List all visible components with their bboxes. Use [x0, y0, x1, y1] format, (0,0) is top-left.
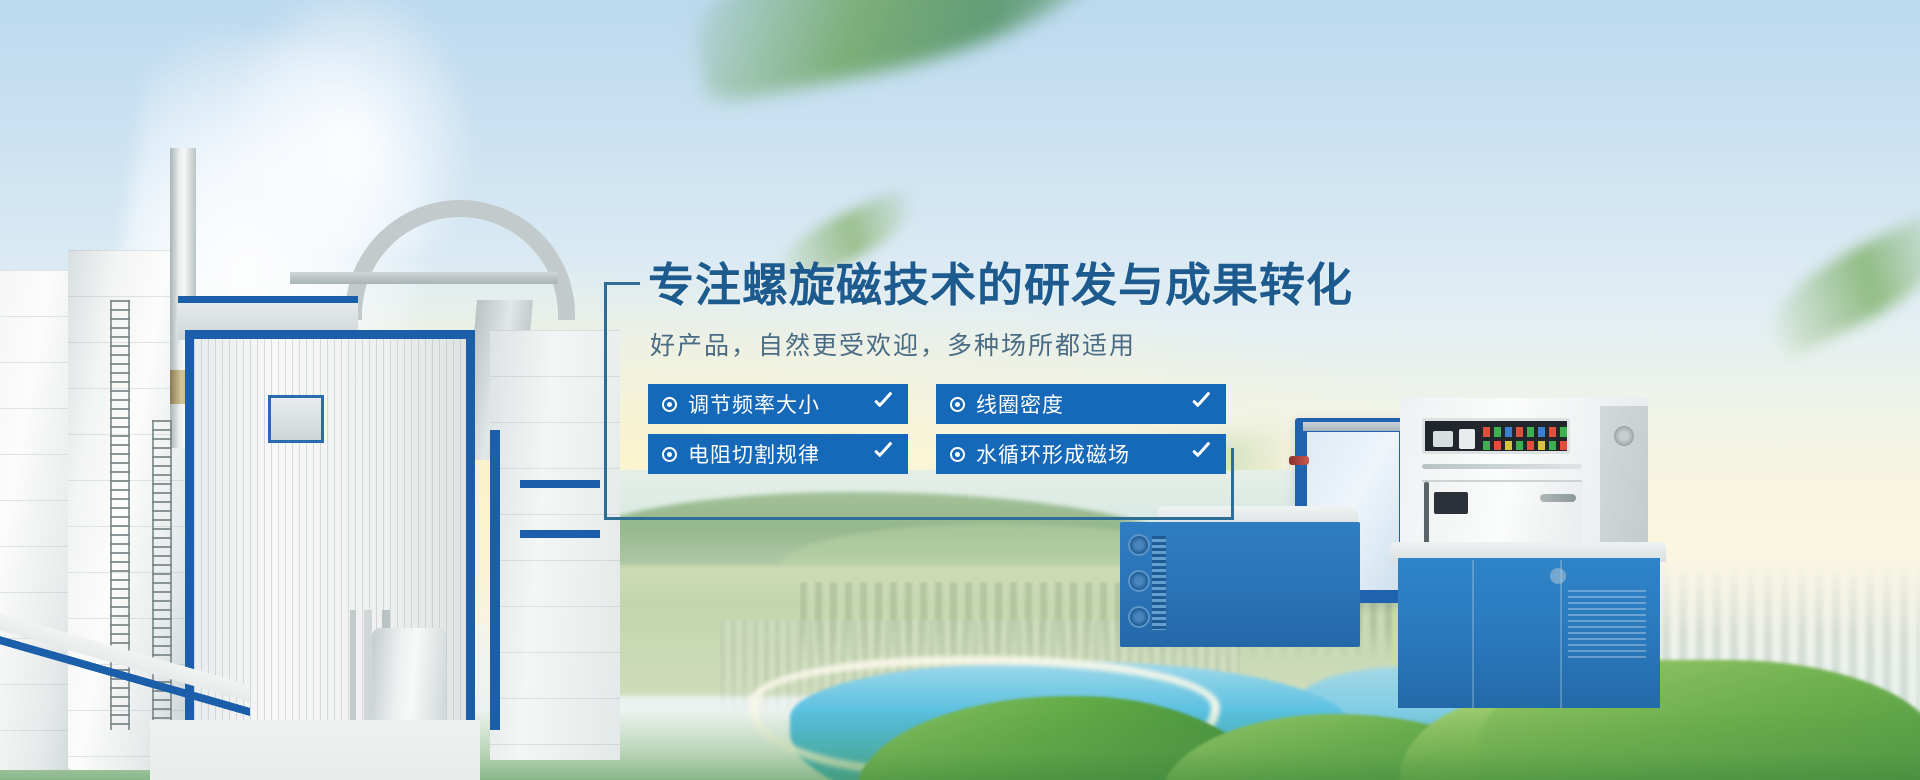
feature-badge-resistance[interactable]: 电阻切割规律: [648, 434, 908, 474]
feature-badge-label: 水循环形成磁场: [976, 439, 1180, 469]
feature-badge-water-cycle[interactable]: 水循环形成磁场: [936, 434, 1226, 474]
feature-badge-frequency[interactable]: 调节频率大小: [648, 384, 908, 424]
feature-badge-coil-density[interactable]: 线圈密度: [936, 384, 1226, 424]
industrial-plant-scene: [0, 180, 620, 780]
panel-indicator-lights: [1483, 427, 1567, 437]
radio-dot-icon: [662, 447, 677, 462]
check-icon: [872, 443, 894, 465]
page-subtitle: 好产品，自然更受欢迎，多种场所都适用: [650, 326, 1408, 362]
hero-banner: 专注螺旋磁技术的研发与成果转化 好产品，自然更受欢迎，多种场所都适用 调节频率大…: [0, 0, 1920, 780]
feature-badge-label: 调节频率大小: [688, 389, 862, 419]
oven-control-panel: [1422, 418, 1570, 454]
structural-beam: [290, 272, 558, 284]
low-building: [150, 720, 480, 780]
blue-chiller-unit: [1120, 522, 1360, 647]
banner-text-block: 专注螺旋磁技术的研发与成果转化 好产品，自然更受欢迎，多种场所都适用 调节频率大…: [648, 258, 1408, 474]
check-icon: [1190, 443, 1212, 465]
vent-louvers: [1152, 536, 1166, 630]
cabinet-port-cap: [1550, 568, 1566, 584]
oven-trim-bar: [1422, 464, 1582, 469]
blue-cross-brace: [520, 480, 600, 488]
oven-door-window: [1434, 492, 1468, 514]
feature-badge-label: 线圈密度: [976, 389, 1180, 419]
panel-meter-icon: [1459, 429, 1475, 449]
cabinet-vent-grille: [1568, 590, 1646, 662]
check-icon: [1190, 393, 1212, 415]
oven-door-lever: [1540, 494, 1576, 502]
radio-dot-icon: [950, 447, 965, 462]
panel-gauge-icon: [1433, 431, 1453, 447]
fan-grille-icon: [1128, 570, 1150, 592]
fan-grille-icon: [1128, 606, 1150, 628]
check-icon: [872, 393, 894, 415]
oven-fan-icon: [1614, 426, 1634, 446]
cabinet-panel-seam: [1472, 560, 1474, 708]
feature-badge-label: 电阻切割规律: [688, 439, 862, 469]
radio-dot-icon: [662, 397, 677, 412]
fan-grille-icon: [1128, 534, 1150, 556]
feature-badge-list: 调节频率大小 线圈密度 电阻切割规律 水循环形成磁场: [648, 384, 1248, 474]
page-title: 专注螺旋磁技术的研发与成果转化: [648, 258, 1408, 312]
panel-indicator-lights-row2: [1483, 441, 1567, 450]
blue-cross-brace: [520, 530, 600, 538]
hall-window: [268, 395, 324, 443]
radio-dot-icon: [950, 397, 965, 412]
